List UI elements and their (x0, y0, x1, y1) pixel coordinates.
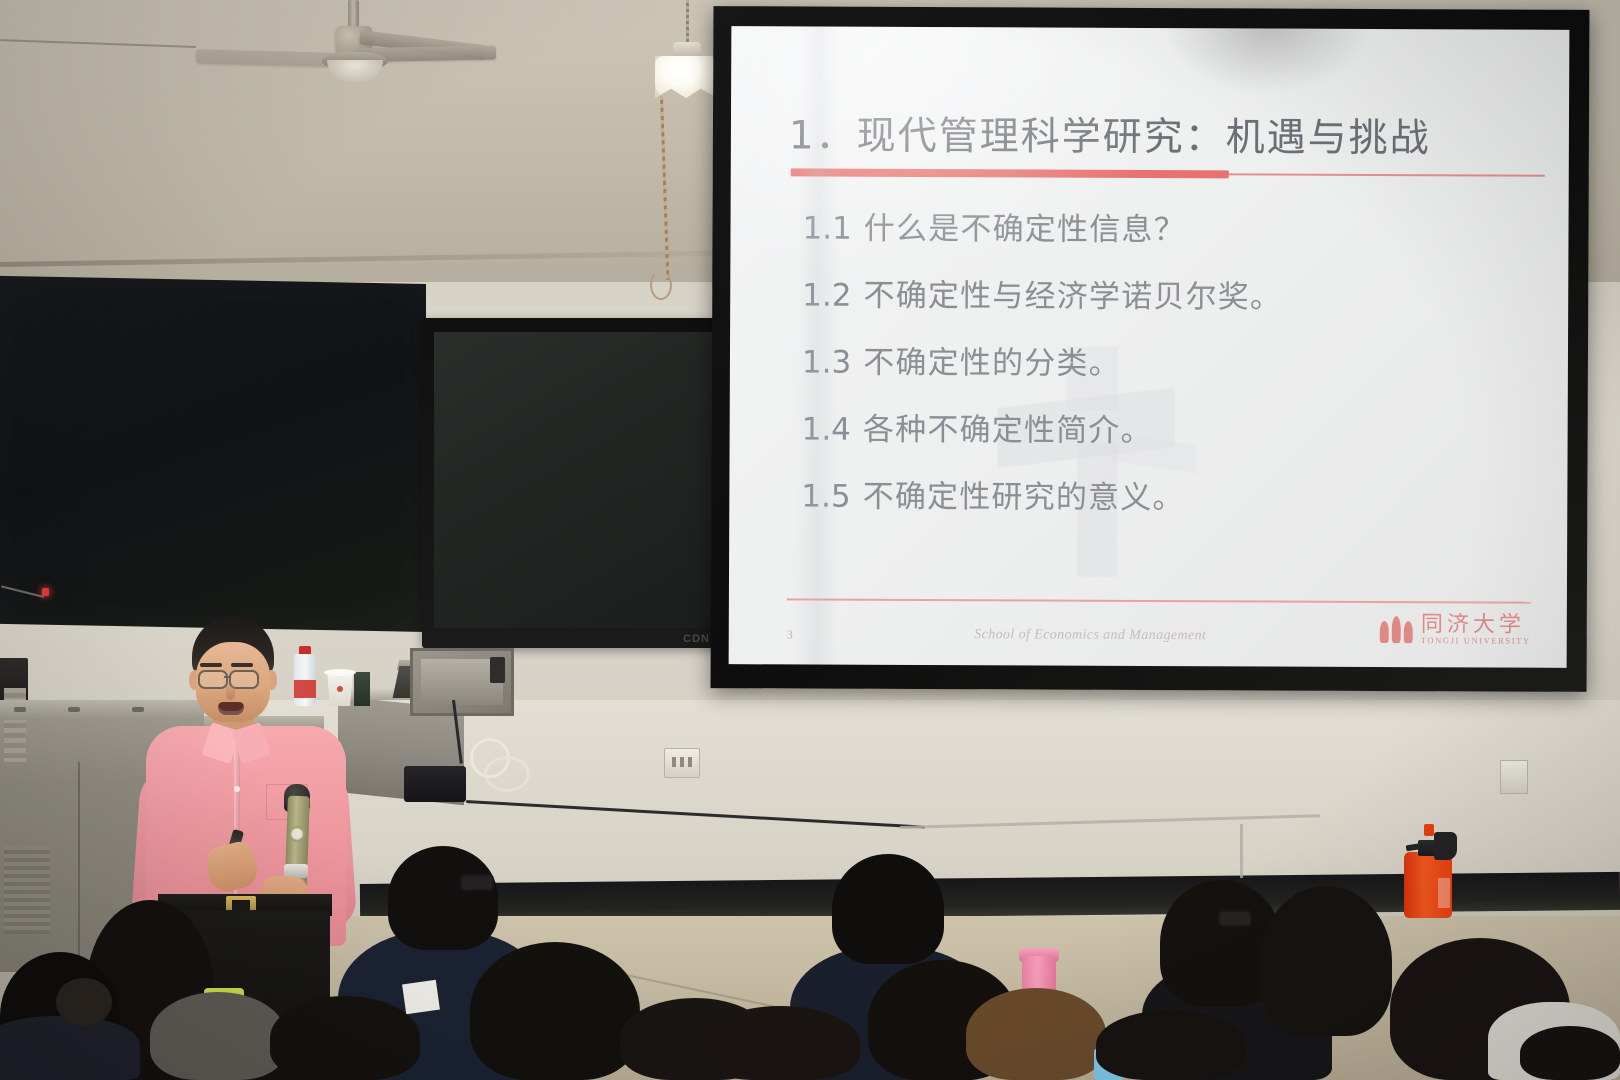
audience-member-head (1096, 1010, 1246, 1080)
slide-content: 1．现代管理科学研究：机遇与挑战 1.1什么是不确定性信息？ 1.2不确定性与经… (729, 26, 1570, 668)
sprayer-label (1438, 878, 1450, 908)
audience-member-head (1260, 886, 1392, 1036)
presenter-eyebrow-left (200, 663, 222, 667)
audience-member-head (832, 854, 944, 964)
bullet-text: 不确定性的分类。 (863, 345, 1121, 382)
audience-member-head (270, 996, 420, 1080)
hair-clip-icon (56, 978, 112, 1026)
projection-screen-frame: 1．现代管理科学研究：机遇与挑战 1.1什么是不确定性信息？ 1.2不确定性与经… (711, 6, 1590, 692)
slide-title: 1．现代管理科学研究：机遇与挑战 (789, 104, 1525, 163)
list-item: 1.3不确定性的分类。 (802, 336, 1524, 384)
logo-chinese-name: 同济大学 (1421, 613, 1531, 637)
list-item: 1.2不确定性与经济学诺贝尔奖。 (802, 269, 1524, 317)
bullet-number: 1.1 (802, 210, 851, 246)
glasses-icon (460, 874, 494, 891)
presenter-nose (226, 686, 235, 700)
list-item: 1.1什么是不确定性信息？ (802, 202, 1524, 250)
audience-member-head (470, 942, 640, 1080)
bullet-text: 什么是不确定性信息？ (864, 211, 1186, 248)
presenter-mouth (218, 702, 244, 715)
wall-cable-drop (1240, 824, 1243, 878)
cabinet-latch[interactable] (68, 707, 80, 712)
tongji-emblem-icon (1380, 615, 1414, 643)
lamp-chain (686, 0, 689, 46)
panel-device (490, 657, 505, 683)
paper-sheet (402, 980, 440, 1014)
network-router (404, 766, 466, 802)
monitor-brand-label: CDN (683, 633, 710, 645)
power-outlet[interactable] (664, 748, 700, 778)
title-underline-accent (791, 168, 1229, 178)
bullet-number: 1.4 (802, 411, 851, 447)
lecture-hall-scene: CDN 1．现代管理科学研究：机遇与挑战 1.1什么是不确定性信息？ 1. (0, 0, 1620, 1080)
electrical-panel[interactable] (410, 648, 514, 716)
monitor-screen (434, 332, 714, 628)
bullet-text: 不确定性研究的意义。 (863, 479, 1185, 516)
bullet-number: 1.2 (802, 277, 851, 313)
eyeglasses-bridge (224, 676, 231, 678)
footer-divider (787, 599, 1531, 604)
logo-english-name: TONGJI UNIVERSITY (1421, 636, 1531, 645)
glasses-icon (1218, 910, 1252, 927)
audience-member-head (388, 846, 498, 950)
audience-member-shoulder (150, 992, 286, 1080)
slide-bullet-list: 1.1什么是不确定性信息？ 1.2不确定性与经济学诺贝尔奖。 1.3不确定性的分… (787, 202, 1524, 518)
sprayer-pump-handle (1434, 832, 1457, 860)
audience-member-head (966, 988, 1106, 1080)
wall-monitor[interactable]: CDN (422, 318, 720, 648)
footer-school-name: School of Economics and Management (839, 627, 1342, 645)
microphone-badge (289, 826, 305, 842)
cabinet-vent-lower (4, 846, 50, 934)
bullet-text: 各种不确定性简介。 (863, 412, 1153, 449)
bullet-number: 1.5 (801, 478, 850, 514)
presenter-eyebrow-right (231, 663, 253, 667)
audience-member-body (0, 1016, 140, 1080)
bullet-text: 不确定性与经济学诺贝尔奖。 (863, 278, 1282, 316)
slide-footer: 3 School of Economics and Management 同济大… (787, 599, 1531, 646)
blackboard (0, 276, 426, 632)
lamp-cord-loop[interactable] (650, 270, 672, 300)
indicator-led (42, 588, 49, 596)
audience-member-head (1520, 1026, 1620, 1080)
list-item: 1.5不确定性研究的意义。 (801, 470, 1523, 518)
power-outlet-right[interactable] (1500, 760, 1528, 794)
projection-screen-surface: 1．现代管理科学研究：机遇与挑战 1.1什么是不确定性信息？ 1.2不确定性与经… (729, 26, 1570, 668)
sprayer-cap (1424, 824, 1434, 836)
bullet-number: 1.3 (802, 344, 851, 380)
cabinet-door-seam (78, 762, 80, 968)
eyeglasses-icon (198, 670, 228, 689)
university-logo: 同济大学 TONGJI UNIVERSITY (1380, 613, 1531, 646)
list-item: 1.4各种不确定性简介。 (802, 403, 1524, 451)
title-underline (789, 168, 1543, 181)
lamp-bulb-glow (655, 56, 717, 98)
pump-sprayer-bottle (1404, 824, 1460, 918)
coiled-cable (484, 756, 530, 792)
audience-member-head (700, 1006, 860, 1080)
shirt-button (234, 786, 240, 792)
cabinet-latch[interactable] (14, 707, 26, 712)
